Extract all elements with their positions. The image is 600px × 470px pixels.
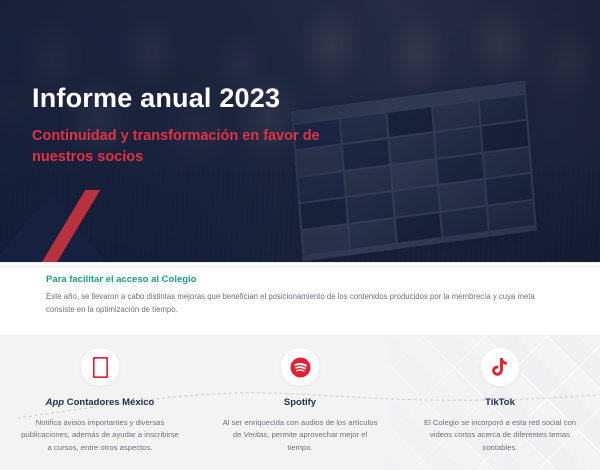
spotify-icon-glyph — [290, 357, 311, 378]
channel-card-title: App Contadores México — [14, 397, 186, 408]
channel-card-title-rest: Spotify — [284, 397, 316, 408]
hero-banner: Informe anual 2023 Continuidad y transfo… — [0, 0, 600, 262]
section-divider — [0, 266, 600, 267]
spotify-icon — [281, 348, 319, 386]
channel-card-body: Notifica avisos importantes y diversas p… — [20, 417, 180, 454]
channel-card-title-rest: Contadores México — [64, 397, 154, 408]
channel-card-body-post: , permite aprovechar mejor el tiempo. — [267, 430, 367, 451]
channel-card-app[interactable]: App Contadores México Notifica avisos im… — [0, 335, 200, 470]
page-root: Informe anual 2023 Continuidad y transfo… — [0, 0, 600, 470]
channel-card-body-emphasis: Veritas — [244, 430, 268, 439]
channel-card-title: Spotify — [214, 397, 386, 408]
hero-subtitle: Continuidad y transformación en favor de… — [32, 126, 362, 168]
channel-card-title-rest: TikTok — [485, 397, 515, 408]
channel-card-body: Al ser enriquecida con audios de los art… — [220, 417, 380, 454]
channel-card-spotify[interactable]: Spotify Al ser enriquecida con audios de… — [200, 335, 400, 470]
channel-card-title: TikTok — [414, 397, 586, 408]
hero-text-block: Informe anual 2023 Continuidad y transfo… — [32, 84, 362, 168]
smartphone-icon-glyph — [93, 357, 108, 378]
channel-card-tiktok[interactable]: TikTok El Colegio se incorporó a esta re… — [400, 335, 600, 470]
intro-section: Para facilitar el acceso al Colegio Este… — [0, 262, 600, 335]
tiktok-icon-glyph — [491, 357, 509, 377]
smartphone-icon — [81, 348, 119, 386]
hero-title: Informe anual 2023 — [32, 84, 362, 114]
channel-card-title-italic: App — [46, 397, 64, 408]
channels-card-list: App Contadores México Notifica avisos im… — [0, 335, 600, 470]
tiktok-icon — [481, 348, 519, 386]
intro-body-text: Este año, se llevaron a cabo distintas m… — [46, 291, 554, 316]
intro-heading: Para facilitar el acceso al Colegio — [46, 274, 554, 285]
channel-card-body: El Colegio se incorporó a esta red socia… — [420, 417, 580, 454]
channels-section: App Contadores México Notifica avisos im… — [0, 335, 600, 470]
